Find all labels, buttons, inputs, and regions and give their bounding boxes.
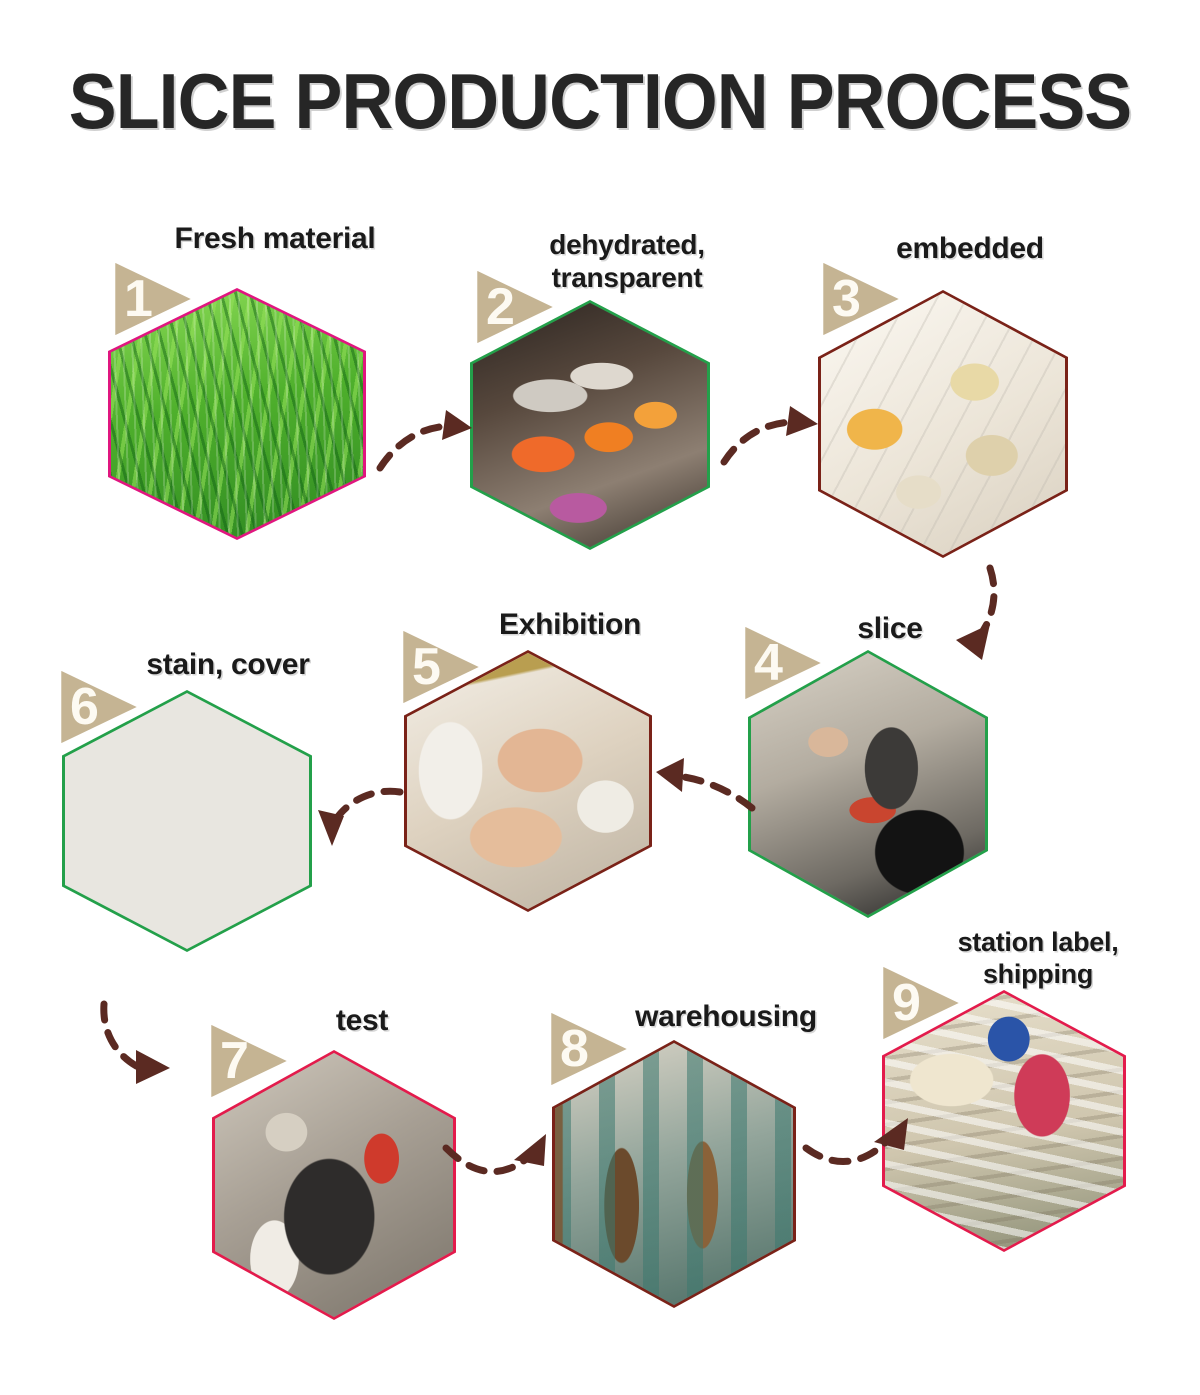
step-8-caption: warehousing [616,1000,836,1034]
step-5-hexagon[interactable] [404,650,652,912]
step-7-photo [215,1053,453,1317]
arrow-3-to-4 [950,560,1040,670]
step-9-photo [885,993,1123,1249]
step-7-hexagon[interactable] [212,1050,456,1320]
step-4-hexagon[interactable] [748,650,988,918]
step-2-hexagon[interactable] [470,300,710,550]
step-9-caption: station label, shipping [922,926,1154,990]
arrow-6-to-7 [82,992,192,1092]
arrow-7-to-8 [436,1122,556,1202]
step-1-caption: Fresh material [150,222,400,256]
step-5-number: 5 [412,641,441,693]
step-5-photo [407,653,649,909]
step-7-number: 7 [220,1035,249,1087]
step-3-number: 3 [832,273,861,325]
step-6-caption: stain, cover [110,648,346,682]
arrow-4-to-5 [650,750,760,820]
step-6-hexagon[interactable] [62,690,312,952]
step-4-photo [751,653,985,915]
step-3-photo [821,293,1065,555]
step-5-caption: Exhibition [450,608,690,642]
step-2-photo [473,303,707,547]
step-2-number: 2 [486,281,515,333]
step-9-hexagon[interactable] [882,990,1126,1252]
step-4-number: 4 [754,637,783,689]
arrow-8-to-9 [798,1108,918,1188]
step-1-number: 1 [124,273,153,325]
page-title: SLICE PRODUCTION PROCESS [48,58,1152,144]
step-9-number: 9 [892,977,921,1029]
step-8-number: 8 [560,1023,589,1075]
step-8-photo [555,1043,793,1305]
step-8-hexagon[interactable] [552,1040,796,1308]
arrow-2-to-3 [718,398,828,478]
step-1-hexagon[interactable] [108,288,366,540]
step-3-caption: embedded [855,232,1085,266]
arrow-1-to-2 [372,400,482,480]
step-1-photo [111,291,363,537]
step-7-caption: test [272,1004,452,1038]
step-2-caption: dehydrated, transparent [512,228,742,294]
arrow-5-to-6 [300,772,410,852]
step-6-number: 6 [70,681,99,733]
step-6-photo [65,693,309,949]
step-3-hexagon[interactable] [818,290,1068,558]
